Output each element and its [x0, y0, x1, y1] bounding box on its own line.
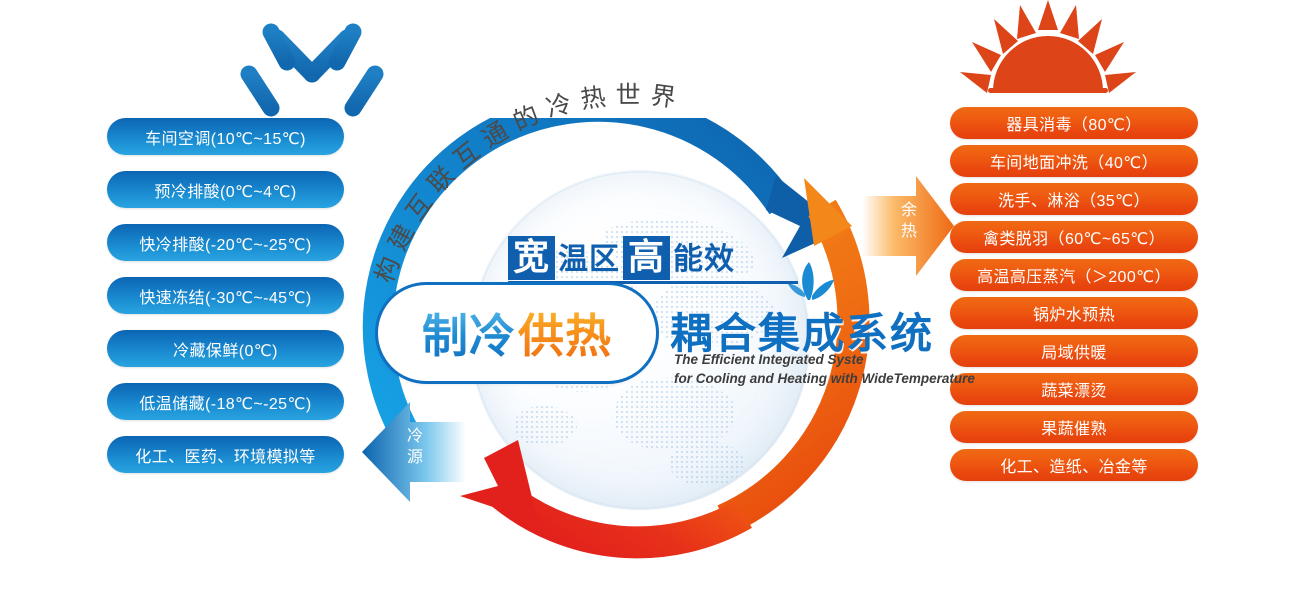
keyword-efficiency: 能效: [670, 240, 738, 280]
cold-pill[interactable]: 冷藏保鲜(0℃): [107, 330, 344, 367]
cold-pill[interactable]: 车间空调(10℃~15℃): [107, 118, 344, 155]
keyword-underline: [508, 281, 798, 284]
heat-pill[interactable]: 禽类脱羽（60℃~65℃）: [950, 221, 1198, 253]
heat-pill[interactable]: 洗手、淋浴（35℃）: [950, 183, 1198, 215]
cold-source-arrow-badge: 冷源: [362, 398, 466, 506]
english-subtitle-line-2: for Cooling and Heating with WideTempera…: [674, 369, 975, 388]
return-flow-arc: [460, 440, 744, 542]
cold-pill[interactable]: 快冷排酸(-20℃~-25℃): [107, 224, 344, 261]
snowflake-icon: [225, 12, 400, 127]
keyword-line: 宽 温区 高 能效: [508, 236, 738, 280]
cold-pill[interactable]: 预冷排酸(0℃~4℃): [107, 171, 344, 208]
lozenge-cooling-text: 制冷: [422, 300, 516, 366]
heat-pill[interactable]: 果蔬催熟: [950, 411, 1198, 443]
cold-pill[interactable]: 低温储藏(-18℃~-25℃): [107, 383, 344, 420]
sun-icon: [958, 0, 1138, 105]
heat-pill[interactable]: 蔬菜漂烫: [950, 373, 1198, 405]
heat-pill[interactable]: 器具消毒（80℃）: [950, 107, 1198, 139]
keyword-wide: 宽: [508, 236, 555, 280]
cold-source-label: 冷源: [404, 426, 426, 468]
lozenge-heating-text: 供热: [518, 300, 612, 366]
english-subtitle-line-1: The Efficient Integrated Syste: [674, 350, 975, 369]
infographic-canvas: 车间空调(10℃~15℃) 预冷排酸(0℃~4℃) 快冷排酸(-20℃~-25℃…: [0, 0, 1300, 590]
leaf-icon: [788, 260, 834, 302]
brand-logo-block: 宽 温区 高 能效 制冷 供热 耦合集成系统 The Efficient I: [378, 228, 948, 403]
heat-pill[interactable]: 高温高压蒸汽（＞200℃）: [950, 259, 1198, 291]
keyword-temp-zone: 温区: [555, 240, 623, 280]
cold-application-list: 车间空调(10℃~15℃) 预冷排酸(0℃~4℃) 快冷排酸(-20℃~-25℃…: [107, 118, 344, 473]
english-subtitle: The Efficient Integrated Syste for Cooli…: [674, 350, 975, 388]
heat-pill[interactable]: 锅炉水预热: [950, 297, 1198, 329]
cold-pill[interactable]: 快速冻结(-30℃~-45℃): [107, 277, 344, 314]
heat-pill[interactable]: 车间地面冲洗（40℃）: [950, 145, 1198, 177]
cold-pill[interactable]: 化工、医药、环境模拟等: [107, 436, 344, 473]
cooling-heating-lozenge: 制冷 供热: [378, 285, 656, 381]
heat-pill[interactable]: 局域供暖: [950, 335, 1198, 367]
heat-pill[interactable]: 化工、造纸、冶金等: [950, 449, 1198, 481]
keyword-high: 高: [623, 236, 670, 280]
heat-application-list: 器具消毒（80℃） 车间地面冲洗（40℃） 洗手、淋浴（35℃） 禽类脱羽（60…: [950, 107, 1198, 481]
